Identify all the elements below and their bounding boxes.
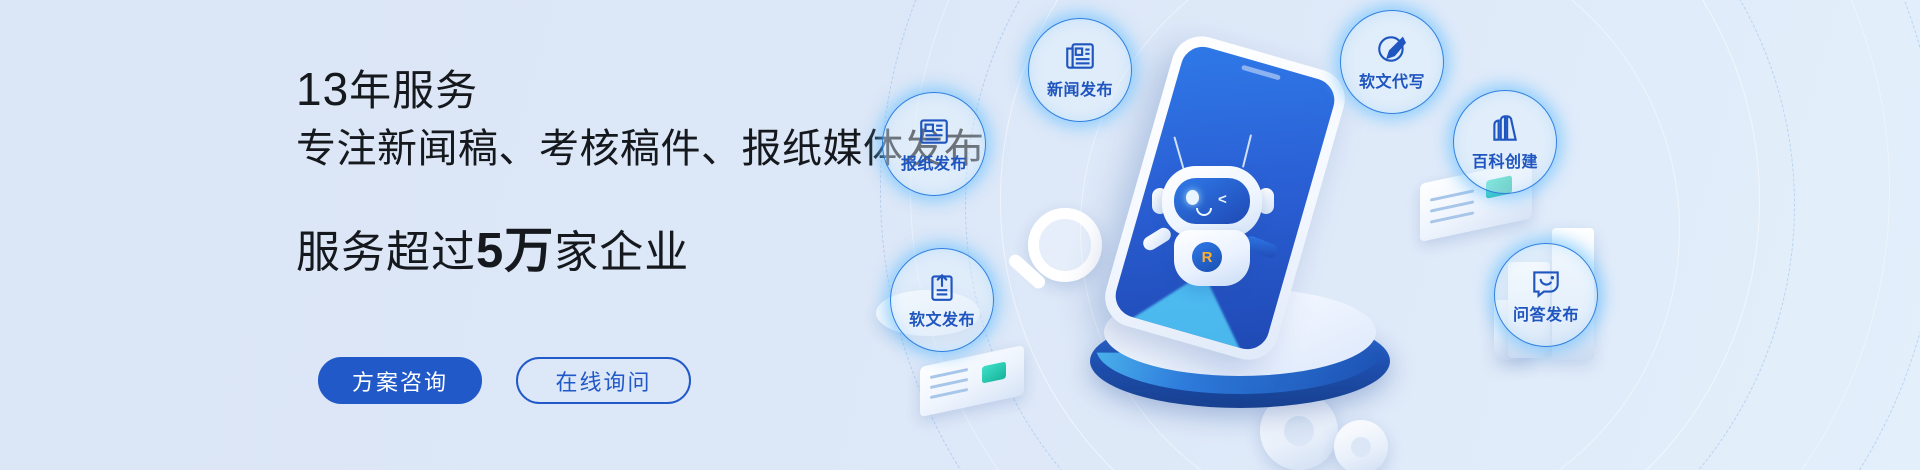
years-suffix: 年服务	[349, 67, 478, 114]
robot-mascot: < R	[1148, 140, 1276, 290]
online-inquiry-button[interactable]: 在线询问	[516, 357, 691, 404]
clients-count: 5万	[476, 224, 554, 278]
service-bubble-encyclopedia[interactable]: 百科创建	[1453, 90, 1557, 194]
service-bubble-label: 报纸发布	[901, 150, 967, 174]
service-bubble-soft-article[interactable]: 软文发布	[890, 248, 994, 352]
news-stack-icon	[1063, 40, 1097, 74]
decor-device-card	[920, 356, 1028, 418]
illustration: < R 报纸发布	[900, 0, 1920, 470]
service-bubble-label: 软文发布	[909, 306, 975, 330]
clients-suffix: 家企业	[554, 228, 689, 277]
years-number: 13	[296, 63, 349, 115]
pencil-circle-icon	[1375, 32, 1409, 66]
robot-wink: <	[1218, 192, 1227, 207]
service-bubble-label: 问答发布	[1513, 301, 1579, 325]
gear-icon	[1334, 420, 1388, 470]
service-bubble-label: 百科创建	[1472, 148, 1538, 172]
cta-group: 方案咨询 在线询问	[318, 357, 691, 404]
robot-badge: R	[1192, 242, 1222, 272]
service-bubble-news[interactable]: 新闻发布	[1028, 18, 1132, 122]
service-bubble-newspaper[interactable]: 报纸发布	[882, 92, 986, 196]
service-bubble-ghostwriting[interactable]: 软文代写	[1340, 10, 1444, 114]
smiley-chat-icon	[1529, 265, 1563, 299]
clients-prefix: 服务超过	[296, 228, 476, 277]
promo-banner: 13年服务 专注新闻稿、考核稿件、报纸媒体发布 服务超过5万家企业 方案咨询 在…	[0, 0, 1920, 470]
service-bubble-label: 新闻发布	[1047, 76, 1113, 100]
consult-plan-button[interactable]: 方案咨询	[318, 357, 482, 404]
service-bubble-label: 软文代写	[1359, 68, 1425, 92]
upload-document-icon	[925, 270, 959, 304]
service-bubble-qa[interactable]: 问答发布	[1494, 243, 1598, 347]
newspaper-icon	[917, 114, 951, 148]
books-icon	[1488, 112, 1522, 146]
magnifier-icon	[1028, 208, 1102, 282]
